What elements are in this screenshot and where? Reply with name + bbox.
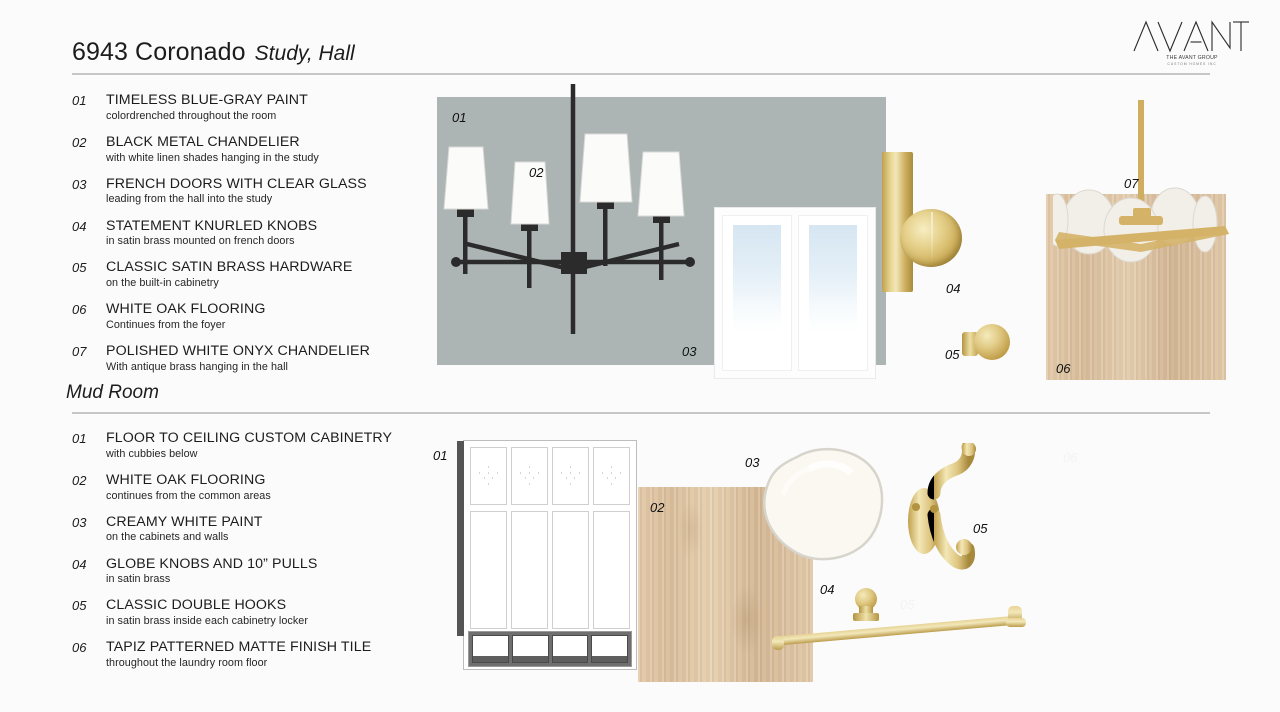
locker bbox=[511, 511, 548, 629]
legend-item-title: TAPIZ PATTERNED MATTE FINISH TILE bbox=[106, 639, 432, 656]
legend-item: 05CLASSIC SATIN BRASS HARDWAREon the bui… bbox=[72, 259, 432, 291]
upper-cabinet bbox=[552, 447, 589, 505]
legend-item: 02BLACK METAL CHANDELIERwith white linen… bbox=[72, 134, 432, 166]
legend-item-description: on the cabinets and walls bbox=[106, 530, 432, 545]
mood-board-page: 6943 Coronado Study, Hall THE AVANT GROU… bbox=[0, 0, 1280, 712]
collage-label-paint: 01 bbox=[452, 110, 466, 125]
project-subtitle: Study, Hall bbox=[255, 42, 355, 66]
locker bbox=[552, 511, 589, 629]
legend-item-title: WHITE OAK FLOORING bbox=[106, 301, 432, 318]
upper-cabinet bbox=[593, 447, 630, 505]
legend-item-number: 04 bbox=[72, 219, 100, 234]
legend-item: 03FRENCH DOORS WITH CLEAR GLASSleading f… bbox=[72, 176, 432, 208]
page-title: 6943 Coronado Study, Hall bbox=[72, 38, 772, 67]
cubby bbox=[472, 635, 509, 663]
legend-item-description: on the built-in cabinetry bbox=[106, 276, 432, 291]
project-title: 6943 Coronado bbox=[72, 38, 246, 67]
legend-item-title: FLOOR TO CEILING CUSTOM CABINETRY bbox=[106, 430, 432, 447]
legend-item-description: with white linen shades hanging in the s… bbox=[106, 151, 432, 166]
knob-ball bbox=[900, 209, 962, 267]
legend-item-description: with cubbies below bbox=[106, 447, 432, 462]
cabinet-locker-row bbox=[470, 511, 630, 629]
collage-label-mud-knob: 04 bbox=[820, 582, 834, 597]
collage-label-hook: 05 bbox=[973, 521, 987, 536]
vent-pattern-icon bbox=[479, 466, 499, 486]
legend-item-number: 03 bbox=[72, 515, 100, 530]
locker bbox=[593, 511, 630, 629]
legend-item-number: 01 bbox=[72, 431, 100, 446]
vent-pattern-icon bbox=[520, 466, 540, 486]
legend-item-title: STATEMENT KNURLED KNOBS bbox=[106, 218, 432, 235]
creamy-white-paint-swatch bbox=[757, 447, 887, 565]
legend-item-number: 03 bbox=[72, 177, 100, 192]
legend-item: 04GLOBE KNOBS AND 10” PULLSin satin bras… bbox=[72, 556, 432, 588]
legend-item-number: 02 bbox=[72, 135, 100, 150]
legend-item-description: With antique brass hanging in the hall bbox=[106, 360, 432, 375]
legend-item-description: throughout the laundry room floor bbox=[106, 656, 432, 671]
vent-pattern-icon bbox=[561, 466, 581, 486]
door-right bbox=[798, 215, 868, 371]
upper-cabinet bbox=[511, 447, 548, 505]
cabinet-upper-row bbox=[470, 447, 630, 505]
legend-item-title: WHITE OAK FLOORING bbox=[106, 472, 432, 489]
legend-item: 07POLISHED WHITE ONYX CHANDELIERWith ant… bbox=[72, 343, 432, 375]
cubby bbox=[512, 635, 549, 663]
logo-tagline-small: CUSTOM HOMES INC bbox=[1132, 62, 1252, 66]
legend-item-number: 05 bbox=[72, 598, 100, 613]
legend-study-hall: 01TIMELESS BLUE-GRAY PAINTcolordrenched … bbox=[72, 92, 432, 385]
collage-label-knob: 04 bbox=[946, 281, 960, 296]
legend-item-description: colordrenched throughout the room bbox=[106, 109, 432, 124]
globe-knob-base bbox=[853, 613, 879, 621]
legend-item: 05CLASSIC DOUBLE HOOKSin satin brass ins… bbox=[72, 597, 432, 629]
legend-item-number: 06 bbox=[72, 640, 100, 655]
french-doors-image bbox=[714, 207, 876, 379]
black-metal-chandelier-icon bbox=[443, 84, 703, 344]
white-onyx-chandelier-icon bbox=[1053, 100, 1233, 300]
locker bbox=[470, 511, 507, 629]
door-left bbox=[722, 215, 792, 371]
legend-item-title: BLACK METAL CHANDELIER bbox=[106, 134, 432, 151]
legend-item-title: POLISHED WHITE ONYX CHANDELIER bbox=[106, 343, 432, 360]
collage-label-hook-alt: 05 bbox=[900, 597, 914, 612]
collage-label-onyx: 07 bbox=[1124, 176, 1138, 191]
collage-label-doors: 03 bbox=[682, 344, 696, 359]
collage-label-mud-paint: 03 bbox=[745, 455, 759, 470]
legend-item-title: FRENCH DOORS WITH CLEAR GLASS bbox=[106, 176, 432, 193]
legend-item-number: 02 bbox=[72, 473, 100, 488]
brass-double-hook-image bbox=[900, 443, 1010, 603]
cabinet-shadow bbox=[457, 441, 464, 636]
legend-item-description: in satin brass mounted on french doors bbox=[106, 234, 432, 249]
header-divider bbox=[72, 73, 1210, 75]
legend-item-title: CLASSIC DOUBLE HOOKS bbox=[106, 597, 432, 614]
legend-item-title: CLASSIC SATIN BRASS HARDWARE bbox=[106, 259, 432, 276]
legend-item: 01FLOOR TO CEILING CUSTOM CABINETRYwith … bbox=[72, 430, 432, 462]
legend-item-title: GLOBE KNOBS AND 10” PULLS bbox=[106, 556, 432, 573]
knob-globe bbox=[974, 324, 1010, 360]
avant-wordmark-icon bbox=[1132, 18, 1250, 54]
door-right-glass bbox=[809, 225, 857, 332]
custom-cabinetry-image bbox=[463, 440, 637, 670]
legend-item-description: continues from the common areas bbox=[106, 489, 432, 504]
cubby bbox=[591, 635, 628, 663]
door-left-glass bbox=[733, 225, 781, 332]
section-title-mud-room: Mud Room bbox=[66, 382, 159, 404]
upper-cabinet bbox=[470, 447, 507, 505]
logo-tagline-text: THE AVANT GROUP bbox=[1166, 55, 1217, 61]
legend-item: 02WHITE OAK FLOORINGcontinues from the c… bbox=[72, 472, 432, 504]
legend-item-number: 06 bbox=[72, 302, 100, 317]
legend-item-number: 01 bbox=[72, 93, 100, 108]
collage-label-tile: 06 bbox=[1063, 450, 1077, 465]
legend-item-description: in satin brass bbox=[106, 572, 432, 587]
collage-label-flooring: 06 bbox=[1056, 361, 1070, 376]
avant-logo: THE AVANT GROUP CUSTOM HOMES INC bbox=[1132, 18, 1252, 66]
collage-label-mud-flooring: 02 bbox=[650, 500, 664, 515]
cabinet-cubby-row bbox=[468, 631, 632, 667]
collage-label-cabinetry: 01 bbox=[433, 448, 447, 463]
legend-item-description: in satin brass inside each cabinetry loc… bbox=[106, 614, 432, 629]
legend-item: 04STATEMENT KNURLED KNOBSin satin brass … bbox=[72, 218, 432, 250]
collage-label-chandelier: 02 bbox=[529, 165, 543, 180]
legend-item-number: 07 bbox=[72, 344, 100, 359]
legend-item: 03CREAMY WHITE PAINTon the cabinets and … bbox=[72, 514, 432, 546]
legend-item-title: CREAMY WHITE PAINT bbox=[106, 514, 432, 531]
legend-item-number: 05 bbox=[72, 260, 100, 275]
mud-room-divider bbox=[72, 412, 1210, 414]
legend-item-title: TIMELESS BLUE-GRAY PAINT bbox=[106, 92, 432, 109]
legend-item: 06WHITE OAK FLOORINGContinues from the f… bbox=[72, 301, 432, 333]
vent-pattern-icon bbox=[602, 466, 622, 486]
legend-item: 01TIMELESS BLUE-GRAY PAINTcolordrenched … bbox=[72, 92, 432, 124]
cubby bbox=[552, 635, 589, 663]
legend-item: 06TAPIZ PATTERNED MATTE FINISH TILEthrou… bbox=[72, 639, 432, 671]
legend-mud-room: 01FLOOR TO CEILING CUSTOM CABINETRYwith … bbox=[72, 430, 432, 681]
legend-item-description: leading from the hall into the study bbox=[106, 192, 432, 207]
legend-item-description: Continues from the foyer bbox=[106, 318, 432, 333]
collage-label-hardware: 05 bbox=[945, 347, 959, 362]
legend-item-number: 04 bbox=[72, 557, 100, 572]
